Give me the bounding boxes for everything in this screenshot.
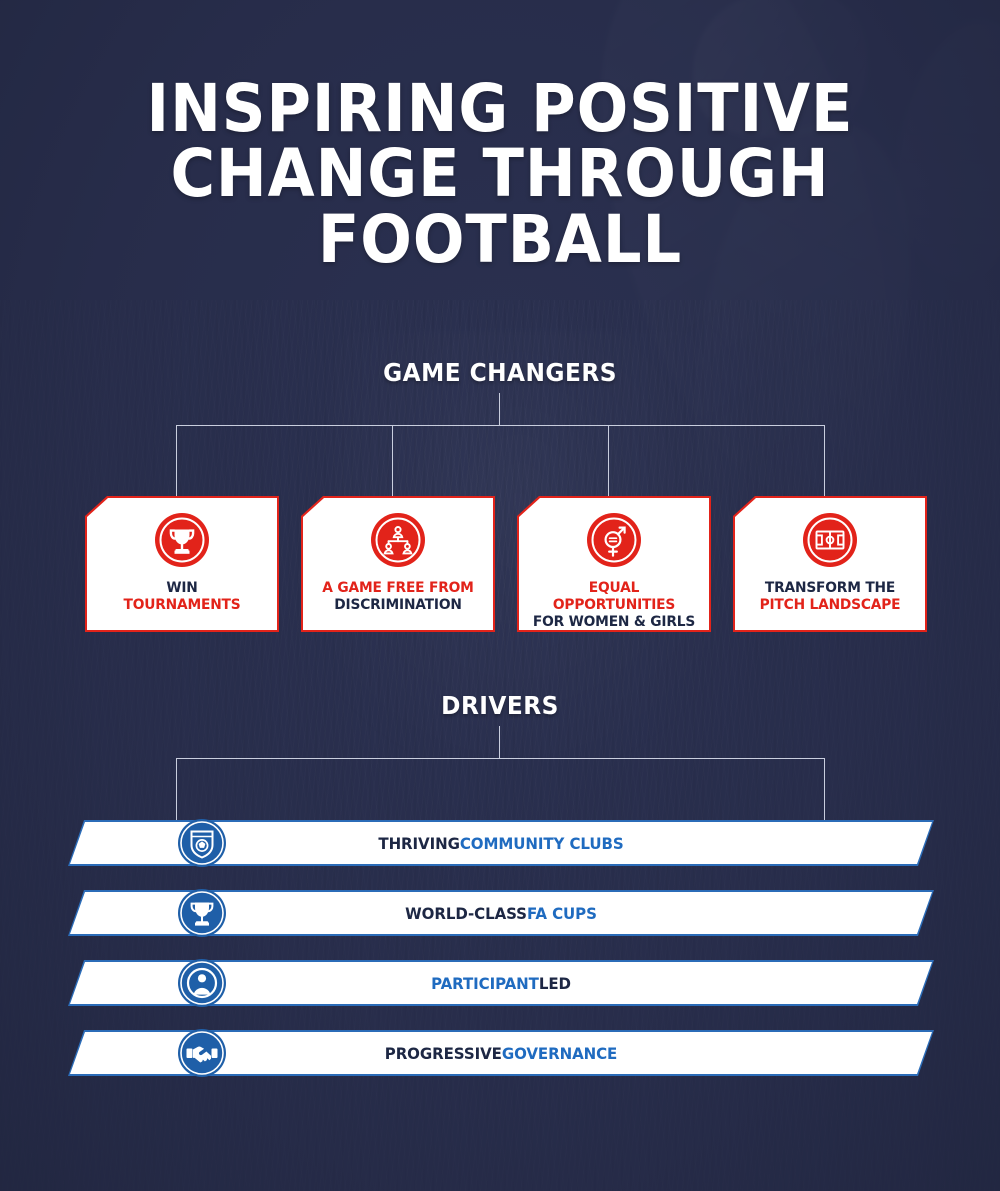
driver-label-3-navy: LED (539, 974, 571, 993)
trophy-icon (154, 512, 210, 568)
gender-equality-icon (586, 512, 642, 568)
game-changer-label-2-line-1: A GAME FREE FROM (313, 580, 482, 597)
trophy-icon (175, 886, 229, 940)
game-changer-card-equal-opportunities[interactable]: EQUAL OPPORTUNITIES FOR WOMEN & GIRLS (517, 496, 711, 632)
driver-label-2-navy: WORLD-CLASS (405, 904, 527, 923)
driver-label-1-blue: COMMUNITY CLUBS (460, 834, 624, 853)
driver-label-4-navy: PROGRESSIVE (385, 1044, 502, 1063)
game-changers-bus-connector (176, 425, 824, 426)
game-changer-label-1-line-1: WIN (97, 580, 266, 597)
game-changers-drop-connector-2 (392, 425, 393, 496)
drivers-drop-connector-left (176, 758, 177, 824)
page-title-line-1: INSPIRING POSITIVE (40, 76, 960, 141)
game-changers-heading: GAME CHANGERS (35, 358, 965, 387)
club-badge-icon (175, 816, 229, 870)
driver-label-3-blue: PARTICIPANT (431, 974, 539, 993)
driver-label-1-navy: THRIVING (378, 834, 459, 853)
game-changers-drop-connector-4 (824, 425, 825, 496)
driver-label-2-blue: FA CUPS (527, 904, 597, 923)
game-changers-drop-connector-1 (176, 425, 177, 496)
game-changer-card-transform-pitch-landscape[interactable]: TRANSFORM THE PITCH LANDSCAPE (733, 496, 927, 632)
game-changer-label-2-line-2: DISCRIMINATION (313, 597, 482, 614)
drivers-drop-connector-right (824, 758, 825, 824)
page-title: INSPIRING POSITIVE CHANGE THROUGH FOOTBA… (0, 76, 1000, 272)
driver-row-progressive-governance[interactable]: PROGRESSIVE GOVERNANCE (68, 1030, 934, 1076)
driver-row-community-clubs[interactable]: THRIVING COMMUNITY CLUBS (68, 820, 934, 866)
game-changer-label-4-line-1: TRANSFORM THE (745, 580, 914, 597)
driver-label-4-blue: GOVERNANCE (502, 1044, 617, 1063)
game-changer-label-1-line-2: TOURNAMENTS (97, 597, 266, 614)
drivers-stem-connector (499, 726, 500, 758)
game-changer-label-4: TRANSFORM THE PITCH LANDSCAPE (745, 580, 914, 614)
game-changer-label-1: WIN TOURNAMENTS (97, 580, 266, 614)
game-changers-drop-connector-3 (608, 425, 609, 496)
org-chart-icon (370, 512, 426, 568)
driver-row-fa-cups[interactable]: WORLD-CLASS FA CUPS (68, 890, 934, 936)
game-changer-label-2: A GAME FREE FROM DISCRIMINATION (313, 580, 482, 614)
game-changer-label-3-line-2: FOR WOMEN & GIRLS (529, 614, 698, 631)
drivers-heading: DRIVERS (35, 691, 965, 720)
game-changer-label-3-line-1: EQUAL OPPORTUNITIES (529, 580, 698, 614)
drivers-bus-connector (176, 758, 824, 759)
football-pitch-icon (802, 512, 858, 568)
game-changer-label-4-line-2: PITCH LANDSCAPE (745, 597, 914, 614)
driver-row-participant-led[interactable]: PARTICIPANT LED (68, 960, 934, 1006)
participant-icon (175, 956, 229, 1010)
handshake-icon (175, 1026, 229, 1080)
page-title-line-2: CHANGE THROUGH (40, 141, 960, 206)
page-title-line-3: FOOTBALL (40, 207, 960, 272)
game-changers-stem-connector (499, 393, 500, 425)
game-changer-label-3: EQUAL OPPORTUNITIES FOR WOMEN & GIRLS (529, 580, 698, 631)
game-changer-card-win-tournaments[interactable]: WIN TOURNAMENTS (85, 496, 279, 632)
game-changer-card-game-free-from-discrimination[interactable]: A GAME FREE FROM DISCRIMINATION (301, 496, 495, 632)
